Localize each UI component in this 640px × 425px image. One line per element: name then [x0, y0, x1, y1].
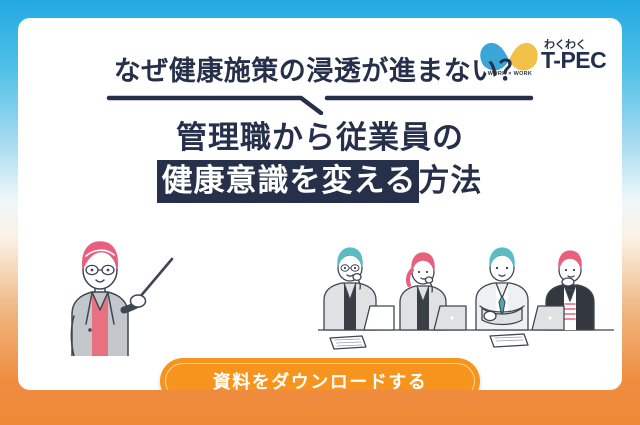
presenter-illustration — [50, 232, 182, 356]
headline-line-2: 管理職から従業員の — [18, 119, 622, 157]
audience-illustration — [318, 244, 614, 356]
headline-line-3-tail: 方法 — [419, 163, 483, 198]
headline-block: なぜ健康施策の浸透が進まない？ 管理職から従業員の 健康意識を変える方法 — [18, 56, 622, 200]
decorative-underline — [105, 93, 535, 115]
headline-line-3: 健康意識を変える方法 — [18, 162, 622, 200]
cta-label: 資料をダウンロードする — [160, 358, 480, 390]
promotional-banner: WORK × WORK わくわく T-PEC なぜ健康施策の浸透が進まない？ 管… — [0, 0, 640, 425]
headline-highlight: 健康意識を変える — [157, 160, 418, 203]
headline-line-1: なぜ健康施策の浸透が進まない？ — [18, 56, 622, 87]
white-content-card: WORK × WORK わくわく T-PEC なぜ健康施策の浸透が進まない？ 管… — [18, 18, 622, 390]
download-document-button[interactable]: 資料をダウンロードする — [160, 358, 480, 390]
